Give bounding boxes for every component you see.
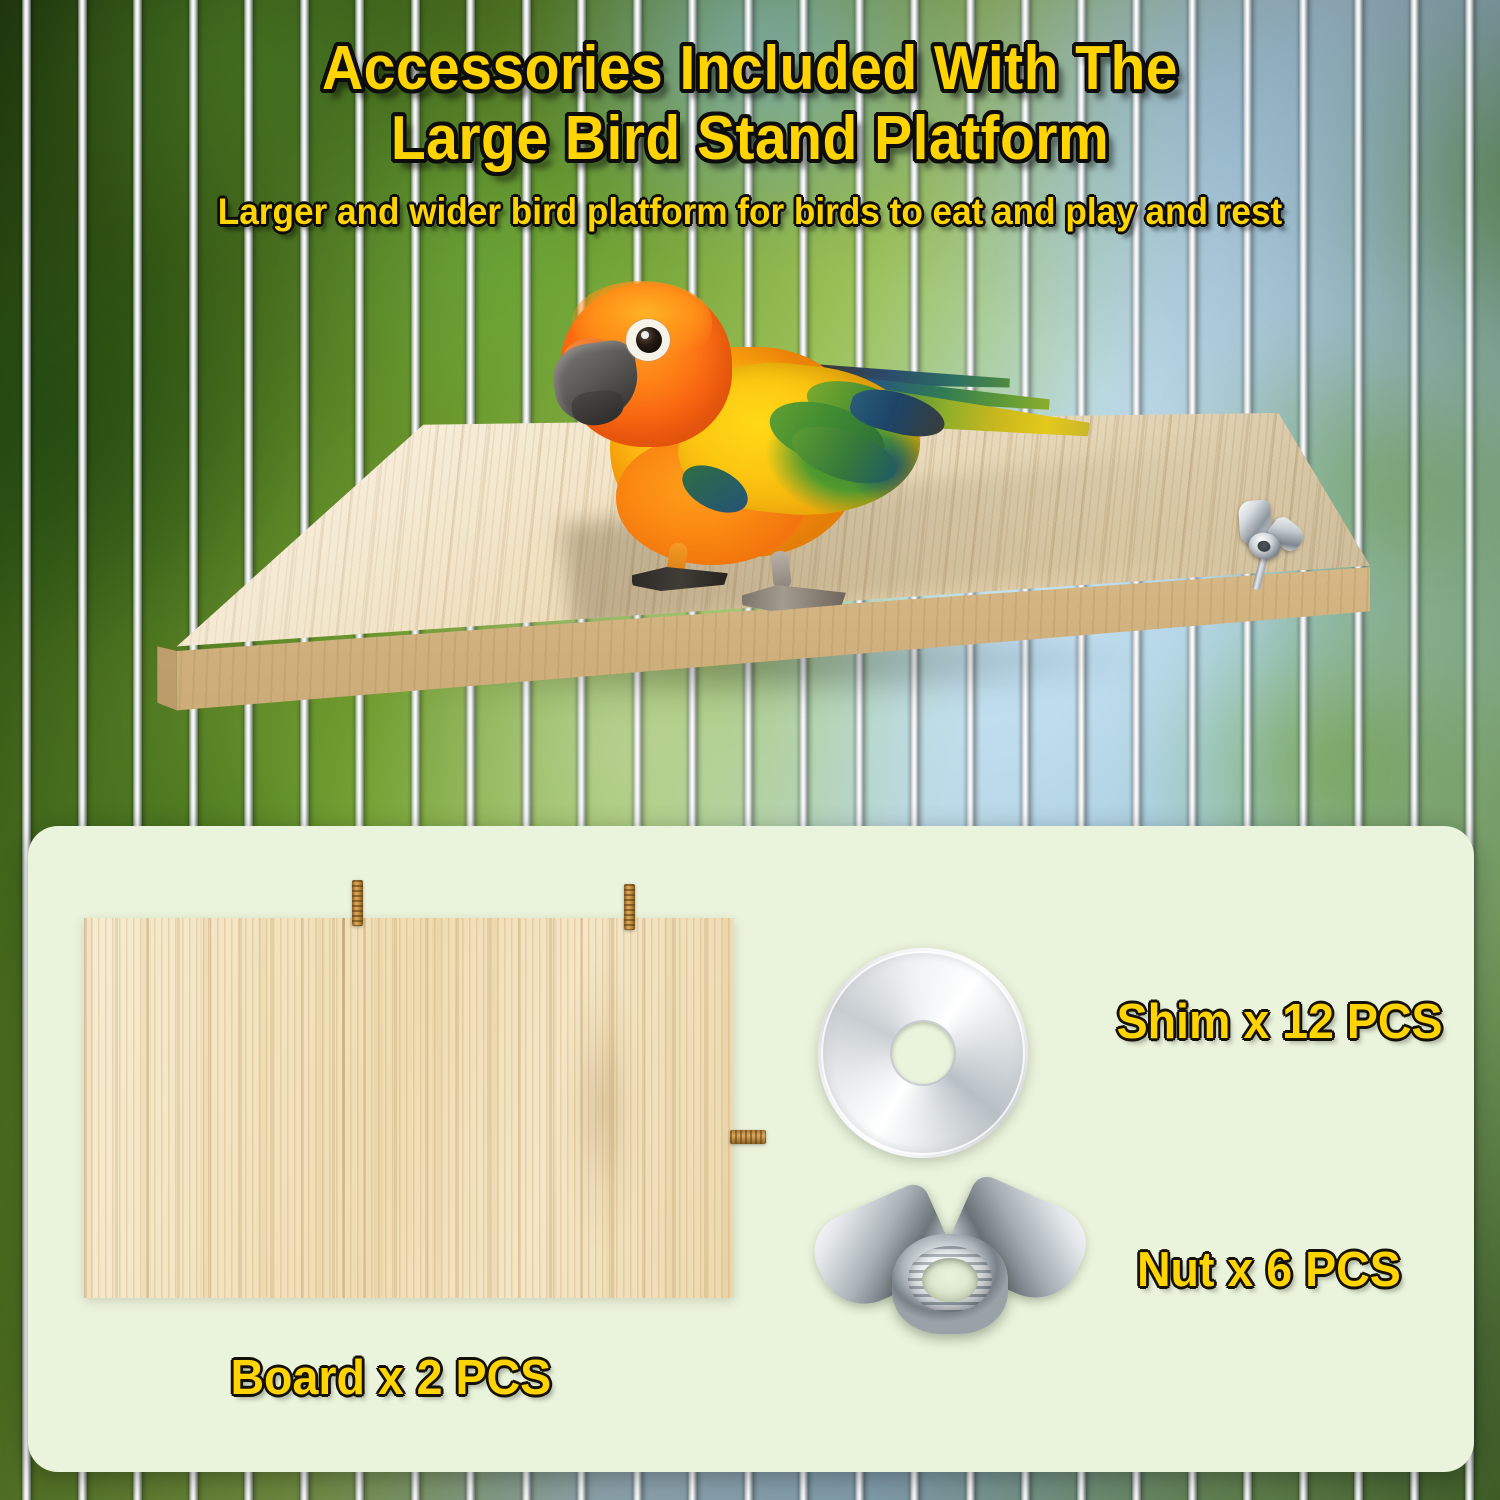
shim-center-hole (892, 1022, 954, 1084)
board-screw-top-right (624, 884, 635, 930)
accessory-board (84, 918, 734, 1298)
subtitle: Larger and wider bird platform for birds… (38, 190, 1463, 234)
bird-leg-right (770, 550, 792, 590)
sun-conure-parrot (520, 255, 1080, 625)
accessory-wing-nut (816, 1188, 1084, 1348)
board-screw-top-left (352, 880, 363, 926)
page-title: Accessories Included With The Large Bird… (60, 34, 1440, 174)
header-block: Accessories Included With The Large Bird… (0, 34, 1500, 234)
product-marketing-image: Accessories Included With The Large Bird… (0, 0, 1500, 1500)
board-seam (342, 918, 345, 1298)
bird-eye (636, 327, 662, 353)
label-board: Board x 2 PCS (230, 1350, 551, 1406)
label-nut: Nut x 6 PCS (1137, 1242, 1401, 1298)
label-shim: Shim x 12 PCS (1117, 994, 1443, 1050)
headline-line-2: Large Bird Stand Platform (60, 104, 1440, 174)
bird-eye-glint (641, 331, 649, 339)
board-grain-knot (562, 956, 642, 1256)
headline-line-1: Accessories Included With The (322, 34, 1178, 103)
accessory-shim-washer (818, 948, 1028, 1158)
bird-foot-left (632, 567, 728, 591)
board-screw-right (730, 1130, 766, 1144)
bird-foot-right (742, 585, 846, 611)
nut-bore (922, 1258, 978, 1302)
